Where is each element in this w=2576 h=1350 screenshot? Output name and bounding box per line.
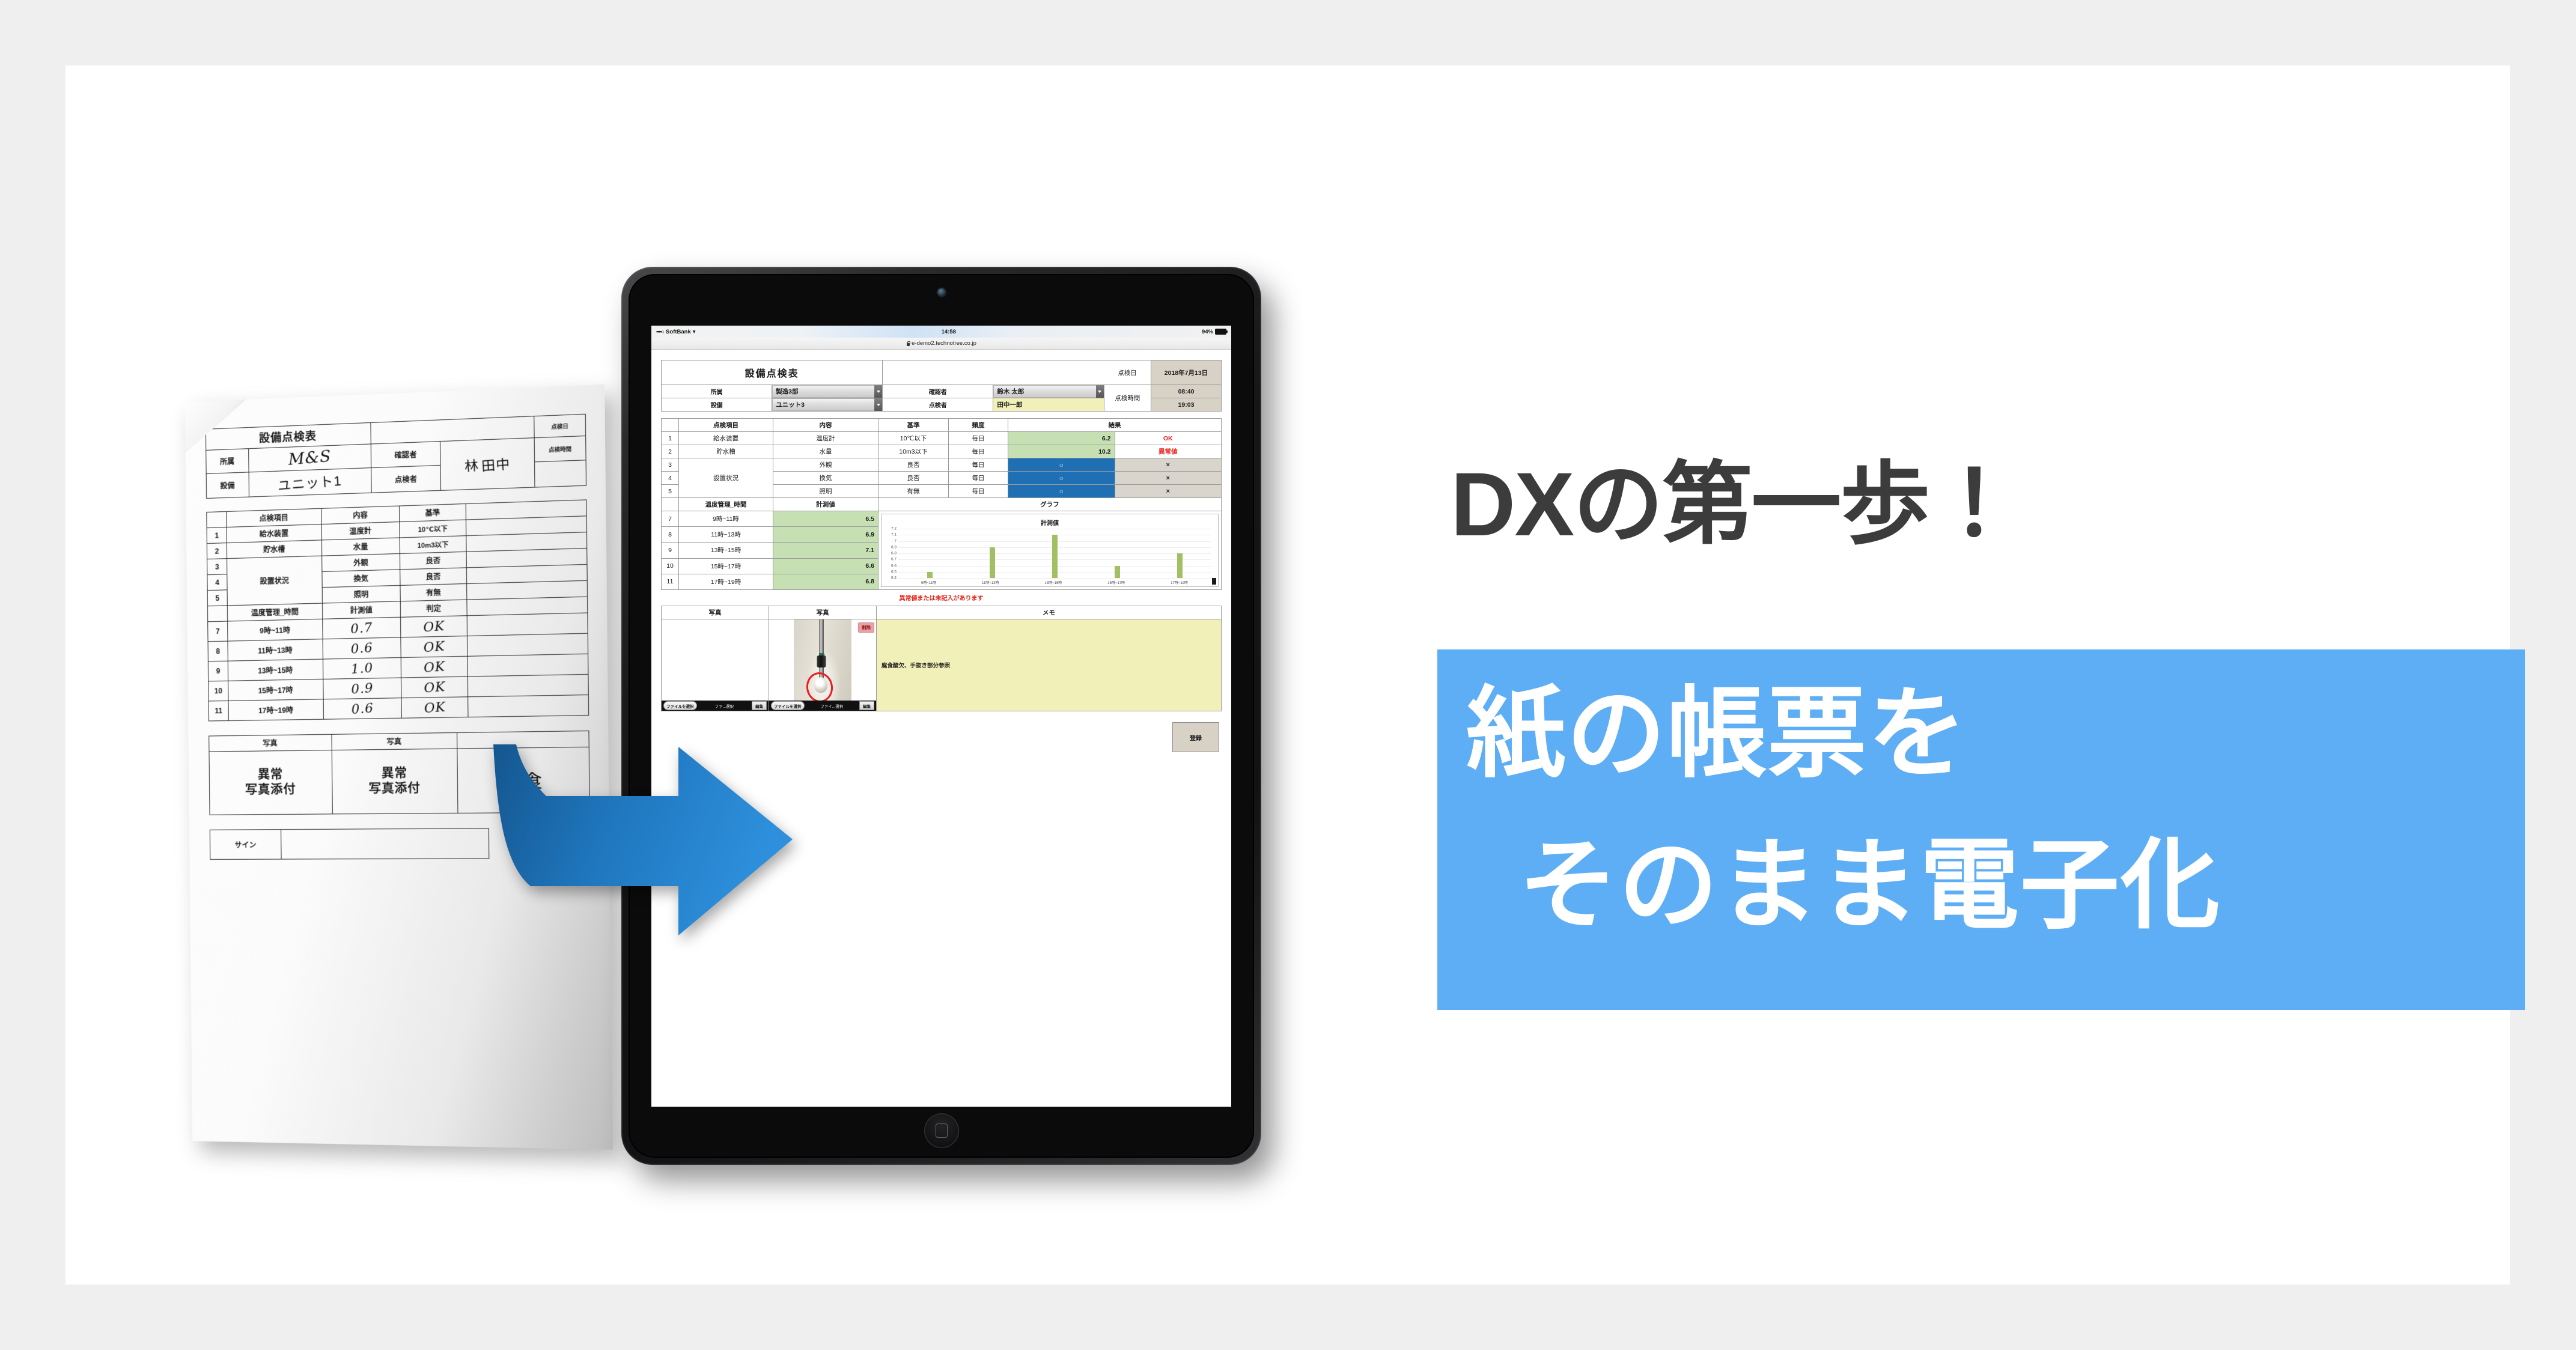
paper-inspector-label: 点検者 — [371, 465, 440, 493]
row-value: 0.7 — [350, 620, 373, 636]
row-judge: OK — [422, 618, 445, 634]
row-no: 3 — [207, 559, 227, 575]
row-detail: 換気 — [322, 570, 400, 588]
row-detail: 温度計 — [321, 522, 400, 540]
col-no — [662, 419, 679, 432]
date-label: 点検日 — [1104, 360, 1151, 385]
measurement-chart: 計測値 7.2 7.1 7 6.9 6.8 6.7 6.6 6.5 — [881, 514, 1219, 587]
url-text: e-demo2.technotree.co.jp — [912, 340, 976, 347]
resize-handle[interactable] — [1212, 578, 1216, 585]
row-freq: 毎日 — [949, 485, 1008, 498]
home-button[interactable] — [924, 1113, 959, 1148]
chart-bar — [990, 547, 995, 578]
paper-col-detail: 内容 — [321, 506, 400, 524]
row-item: 貯水槽 — [679, 445, 773, 458]
y-tick: 7.2 — [891, 527, 897, 531]
chart-x-label: 9時~11時 — [921, 580, 936, 585]
paper-col-std: 基準 — [400, 503, 466, 521]
annotation-circle — [805, 670, 835, 704]
file-name-label: ファイ...選択 — [806, 703, 858, 709]
chart-plot-area: 7.2 7.1 7 6.9 6.8 6.7 6.6 6.5 6.4 — [898, 529, 1211, 579]
photo-slot-1[interactable]: ファイルを選択 ファ...選択 編集 — [662, 619, 769, 711]
result-ok-button[interactable]: ○ — [1008, 458, 1115, 472]
paper-temp-col-value: 計測値 — [322, 601, 400, 619]
row-std: 10℃以下 — [400, 520, 466, 538]
row-std: 10m3以下 — [400, 536, 466, 554]
form-title: 設備点検表 — [662, 360, 883, 385]
memo-input[interactable]: 腐食酸欠、手抜き部分参照 — [877, 619, 1222, 711]
form-header-table: 設備点検表 点検日 2018年7月13日 所属 製造3部 確認者 鈴木 — [661, 360, 1222, 412]
paper-equip-label: 設備 — [206, 472, 249, 499]
equip-label: 設備 — [662, 398, 772, 412]
validation-warning: 異常値または未記入があります — [661, 590, 1222, 606]
row-time: 11時~13時 — [228, 639, 323, 661]
row-value-input[interactable]: 6.2 — [1008, 432, 1115, 445]
file-bar-1: ファイルを選択 ファ...選択 編集 — [662, 701, 769, 711]
row-value: 0.6 — [350, 640, 374, 657]
form-page: 設備点検表 点検日 2018年7月13日 所属 製造3部 確認者 鈴木 — [651, 350, 1231, 757]
paper-temp-col-judge: 判定 — [400, 600, 467, 617]
row-no: 2 — [207, 543, 227, 559]
inspector-input[interactable]: 田中一郎 — [993, 398, 1104, 412]
row-detail: 水量 — [773, 445, 878, 458]
row-detail: 外観 — [322, 553, 400, 571]
row-no: 9 — [662, 543, 679, 558]
row-no: 7 — [208, 621, 228, 642]
file-name-label: ファ...選択 — [699, 703, 751, 709]
arrow-shape — [493, 744, 793, 935]
table-row: 7 9時~11時 6.5 計測値 7.2 7.1 7 6.9 — [662, 511, 1222, 527]
chart-bar — [1177, 553, 1183, 578]
front-camera-icon — [937, 288, 945, 296]
y-tick: 6.8 — [891, 552, 897, 556]
paper-abnormal-line1: 異常 — [334, 765, 455, 782]
chart-x-label: 13時~15時 — [1044, 580, 1062, 585]
y-tick: 7.1 — [891, 533, 897, 537]
equip-select[interactable]: ユニット3 — [772, 398, 883, 412]
paper-header-table: 設備点検表 点検日 所属 M&S 確認者 林 田中 点検時間 設備 ユニッ — [206, 414, 586, 499]
paper-equip-value: ユニット1 — [277, 470, 342, 494]
tagline-line-1: 紙の帳票を — [1466, 684, 1968, 783]
row-detail: 水量 — [321, 538, 400, 556]
row-no: 2 — [662, 445, 679, 458]
row-no: 7 — [662, 511, 679, 527]
paper-inspection-table: 点検項目 内容 基準 1 給水装置 温度計 10℃以下 2 貯水槽 水量 10m… — [206, 499, 589, 721]
col-temp-time: 温度管理_時間 — [679, 498, 773, 511]
col-item: 点検項目 — [679, 419, 773, 432]
row-value-input[interactable]: 10.2 — [1008, 445, 1115, 458]
row-freq: 毎日 — [949, 432, 1008, 445]
chart-x-label: 11時~13時 — [982, 580, 999, 585]
chart-x-labels: 9時~11時11時~13時13時~15時15時~17時17時~19時 — [898, 580, 1211, 585]
signal-dots-icon: ••••○ — [656, 329, 664, 335]
row-judge: OK — [424, 699, 446, 716]
date-value: 2018年7月13日 — [1151, 360, 1222, 385]
row-judge: OK — [423, 679, 446, 695]
row-no: 1 — [662, 432, 679, 445]
row-detail: 照明 — [322, 585, 400, 603]
edit-button[interactable]: 編集 — [859, 701, 874, 710]
y-tick: 6.9 — [891, 545, 897, 549]
row-freq: 毎日 — [949, 458, 1008, 472]
file-select-button[interactable]: ファイルを選択 — [663, 701, 697, 710]
photo-slot-2[interactable]: 削除 ファイルを選択 ファイ...選択 編集 — [769, 619, 877, 711]
row-std: 有無 — [878, 485, 949, 498]
paper-sign-label: サイン — [210, 830, 281, 860]
row-temp-input[interactable]: 6.6 — [773, 558, 878, 574]
chevron-down-icon[interactable] — [1096, 385, 1104, 398]
row-time: 15時~17時 — [228, 679, 323, 701]
col-result: 結果 — [1008, 419, 1222, 432]
equip-value: ユニット3 — [776, 401, 805, 409]
row-detail: 照明 — [773, 485, 878, 498]
paper-sign-table: サイン — [210, 828, 489, 860]
inspection-table: 点検項目 内容 基準 頻度 結果 1 給水装置 温度計 10℃以下 毎日 6.2… — [661, 418, 1222, 590]
lock-icon — [906, 341, 910, 346]
chart-bar — [1052, 535, 1058, 578]
chevron-down-icon[interactable] — [874, 398, 882, 411]
row-temp-input[interactable]: 6.5 — [773, 511, 878, 527]
row-temp-input[interactable]: 6.9 — [773, 527, 878, 543]
paper-dept-label: 所属 — [206, 449, 249, 474]
row-judge: OK — [423, 659, 446, 675]
row-detail: 換気 — [773, 472, 878, 485]
paper-sign-field — [281, 829, 489, 859]
submit-button[interactable]: 登録 — [1172, 722, 1219, 752]
chevron-down-icon[interactable] — [874, 385, 882, 398]
row-no: 8 — [662, 527, 679, 543]
row-no: 4 — [207, 574, 227, 591]
chart-bar — [1115, 566, 1120, 579]
chart-cell: 計測値 7.2 7.1 7 6.9 6.8 6.7 6.6 6.5 — [878, 511, 1222, 590]
row-no: 5 — [662, 485, 679, 498]
row-no: 3 — [662, 458, 679, 472]
row-no: 5 — [207, 590, 227, 606]
tablet-device: ••••○ SoftBank ▾ 14:58 94% e-demo2.techn… — [621, 267, 1261, 1165]
chart-title: 計測値 — [885, 518, 1214, 527]
paper-photo-label-1: 写真 — [209, 734, 332, 752]
table-row: 3 設置状況 外観 良否 毎日 ○ × — [662, 458, 1222, 472]
row-std: 良否 — [878, 458, 949, 472]
row-std: 10℃以下 — [878, 432, 949, 445]
time-label: 点検時間 — [1104, 385, 1151, 412]
row-std: 良否 — [400, 552, 466, 570]
battery-percent-label: 94% — [1202, 329, 1213, 335]
table-row: 1 給水装置 温度計 10℃以下 毎日 6.2 OK — [662, 432, 1222, 445]
row-item: 設置状況 — [227, 556, 323, 606]
temperature-header-row: 温度管理_時間 計測値 グラフ — [662, 498, 1222, 511]
result-ng-button[interactable]: × — [1115, 472, 1222, 485]
row-time: 17時~19時 — [228, 699, 323, 721]
time-start-value: 08:40 — [1151, 385, 1222, 398]
paper-temp-col-time: 温度管理_時間 — [227, 603, 322, 621]
paper-date-label: 点検日 — [534, 414, 586, 437]
row-temp-input[interactable]: 7.1 — [773, 543, 878, 558]
result-ok-button[interactable]: ○ — [1008, 472, 1115, 485]
page-title: DXの第一歩！ — [1451, 459, 2018, 549]
row-time: 13時~15時 — [679, 543, 773, 558]
file-bar-2: ファイルを選択 ファイ...選択 編集 — [769, 701, 876, 711]
confirmer-label: 確認者 — [883, 385, 993, 398]
row-judge: 異常値 — [1115, 445, 1222, 458]
row-item: 設置状況 — [679, 458, 773, 498]
row-no: 1 — [207, 528, 227, 544]
chart-x-label: 17時~19時 — [1171, 580, 1188, 585]
ios-status-bar: ••••○ SoftBank ▾ 14:58 94% — [651, 326, 1231, 338]
result-ng-button[interactable]: × — [1115, 485, 1222, 498]
row-freq: 毎日 — [949, 445, 1008, 458]
col-temp-value: 計測値 — [773, 498, 878, 511]
photo-thumbnail[interactable] — [794, 619, 851, 711]
chart-x-label: 15時~17時 — [1107, 580, 1125, 585]
row-no: 9 — [208, 661, 228, 681]
result-ng-button[interactable]: × — [1115, 458, 1222, 472]
col-detail: 内容 — [773, 419, 878, 432]
col-freq: 頻度 — [949, 419, 1008, 432]
battery-icon — [1215, 329, 1226, 335]
row-no: 4 — [662, 472, 679, 485]
row-no: 8 — [208, 641, 228, 661]
paper-time-label: 点検時間 — [534, 436, 586, 461]
row-value: 1.0 — [350, 660, 374, 677]
row-time: 17時~19時 — [679, 574, 773, 589]
paper-col-no — [207, 511, 227, 528]
confirmer-select[interactable]: 鈴木 太郎 — [993, 385, 1104, 398]
photo-label-1: 写真 — [662, 606, 769, 619]
dept-value: 製造3部 — [776, 388, 798, 395]
col-graph: グラフ — [878, 498, 1222, 511]
time-end-value: 19:03 — [1151, 398, 1222, 412]
inspector-label: 点検者 — [883, 398, 993, 412]
browser-url-bar[interactable]: e-demo2.technotree.co.jp — [651, 338, 1231, 350]
row-time: 13時~15時 — [228, 659, 323, 681]
row-value: 0.6 — [351, 701, 374, 717]
paper-abnormal-line2: 写真添付 — [334, 781, 455, 797]
y-tick: 7 — [894, 539, 897, 543]
photo-memo-table: 写真 写真 メモ ファイルを選択 ファ...選択 編集 — [661, 606, 1222, 711]
row-no: 11 — [662, 574, 679, 589]
coupler-shape — [817, 655, 826, 667]
row-temp-input[interactable]: 6.8 — [773, 574, 878, 589]
transform-arrow — [480, 738, 817, 991]
delete-button[interactable]: 削除 — [858, 622, 874, 633]
y-tick: 6.5 — [891, 570, 897, 574]
table-row: 2 貯水槽 水量 10m3以下 毎日 10.2 異常値 — [662, 445, 1222, 458]
memo-label: メモ — [877, 606, 1222, 619]
col-std: 基準 — [878, 419, 949, 432]
y-tick: 6.6 — [891, 564, 897, 568]
row-time: 9時~11時 — [679, 511, 773, 527]
row-item: 給水装置 — [679, 432, 773, 445]
dept-select[interactable]: 製造3部 — [772, 385, 883, 398]
row-no: 10 — [209, 681, 228, 701]
paper-photo-label-2: 写真 — [332, 732, 457, 750]
paper-confirmer-value: 林 — [464, 454, 480, 475]
row-no: 10 — [662, 558, 679, 574]
result-ok-button[interactable]: ○ — [1008, 485, 1115, 498]
file-select-button[interactable]: ファイルを選択 — [771, 701, 805, 710]
row-std: 10m3以下 — [878, 445, 949, 458]
chart-bars — [898, 529, 1211, 578]
paper-confirmer-label: 確認者 — [371, 442, 440, 468]
row-no: 11 — [209, 701, 228, 721]
carrier-label: SoftBank — [666, 329, 691, 335]
row-detail: 外観 — [773, 458, 878, 472]
row-time: 11時~13時 — [679, 527, 773, 543]
row-value: 0.9 — [350, 681, 374, 697]
poster-canvas: 設備点検表 点検日 所属 M&S 確認者 林 田中 点検時間 設備 ユニッ — [65, 65, 2510, 1285]
confirmer-value: 鈴木 太郎 — [997, 388, 1024, 395]
row-detail: 温度計 — [773, 432, 878, 445]
row-judge: OK — [422, 639, 445, 655]
row-freq: 毎日 — [949, 472, 1008, 485]
paper-abnormal-line2: 写真添付 — [212, 782, 330, 798]
row-time: 15時~17時 — [679, 558, 773, 574]
edit-button[interactable]: 編集 — [752, 701, 767, 710]
row-time: 9時~11時 — [228, 619, 323, 641]
clock-label: 14:58 — [696, 329, 1202, 335]
tagline-line-2: そのまま電子化 — [1518, 836, 2221, 935]
tagline-banner: 紙の帳票を そのまま電子化 — [1437, 649, 2525, 1010]
paper-inspector-value: 田中 — [481, 453, 511, 475]
y-tick: 6.7 — [891, 558, 897, 562]
paper-abnormal-line1: 異常 — [212, 767, 330, 783]
row-std: 良否 — [400, 568, 467, 585]
row-std: 有無 — [400, 583, 467, 601]
y-tick: 6.4 — [891, 576, 897, 580]
chart-bar — [927, 572, 933, 578]
photo-label-2: 写真 — [769, 606, 877, 619]
dept-label: 所属 — [662, 385, 772, 398]
row-judge: OK — [1115, 432, 1222, 445]
paper-temp-col-no — [207, 606, 227, 622]
row-std: 良否 — [878, 472, 949, 485]
paper-dept-value: M&S — [287, 447, 331, 469]
